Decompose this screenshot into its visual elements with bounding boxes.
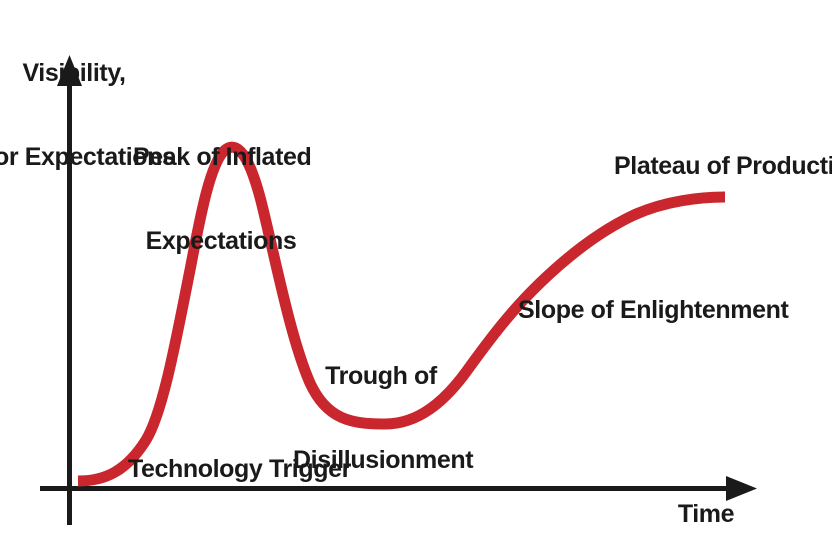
label-peak-line1: Peak of Inflated xyxy=(133,143,309,171)
label-technology-trigger: Technology Trigger xyxy=(128,455,324,483)
label-plateau-of-productivity: Plateau of Productivity xyxy=(614,152,832,180)
label-trough-of-disillusionment: Trough of Disillusionment xyxy=(293,305,469,531)
x-axis-title: Time xyxy=(646,500,766,528)
label-peak-line2: Expectations xyxy=(133,227,309,255)
y-axis-title-line1: Visibility, xyxy=(0,59,154,87)
label-trough-line1: Trough of xyxy=(293,362,469,390)
label-peak-of-inflated-expectations: Peak of Inflated Expectations xyxy=(133,86,309,312)
hype-cycle-chart: Visibility, or Expectations Time Peak of… xyxy=(0,0,832,533)
y-axis-title: Visibility, or Expectations xyxy=(0,2,154,228)
label-slope-of-enlightenment: Slope of Enlightenment xyxy=(518,296,750,324)
y-axis-title-line2: or Expectations xyxy=(0,143,154,171)
x-axis-arrowhead xyxy=(726,476,757,501)
